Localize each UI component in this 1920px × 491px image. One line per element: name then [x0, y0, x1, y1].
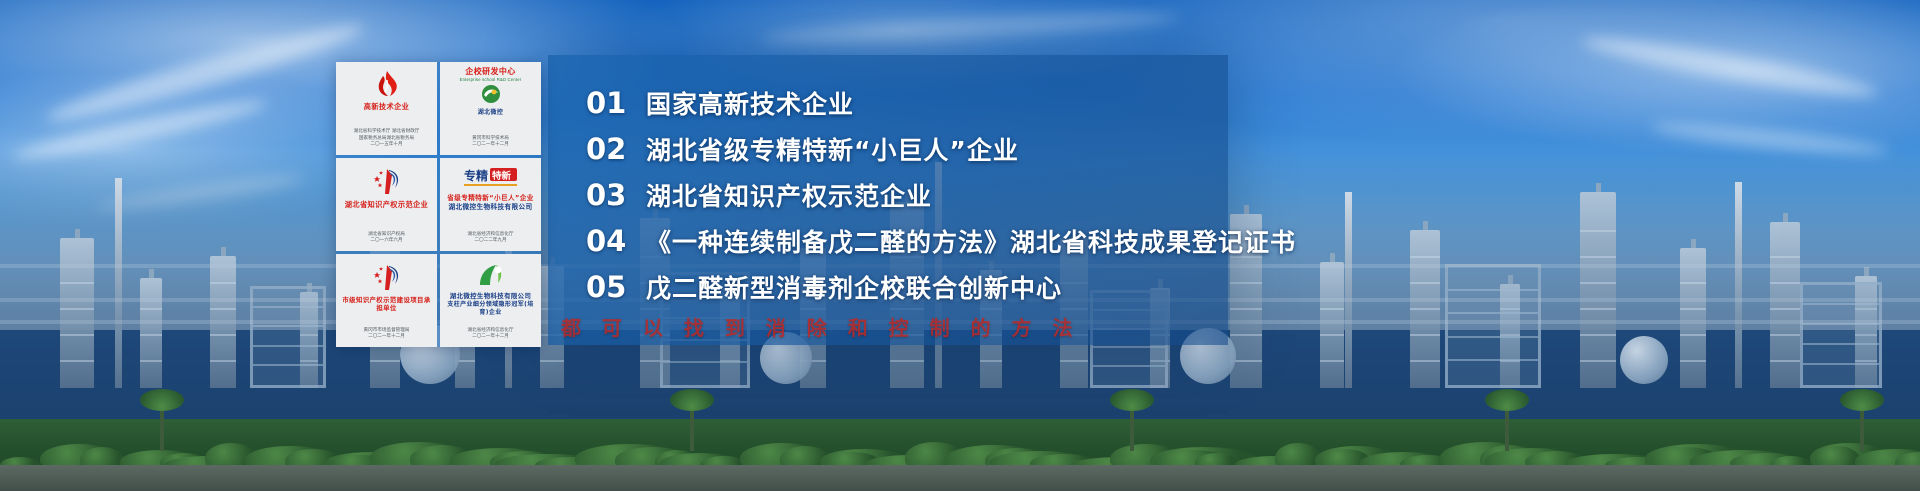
list-item[interactable]: 03 湖北省知识产权示范企业 — [586, 172, 1906, 218]
certificate-subtext: 湖北省知识产权局 二〇一六年六月 — [368, 232, 405, 248]
svg-text:专精: 专精 — [464, 168, 488, 183]
tower-band — [1680, 360, 1706, 362]
tower-band — [140, 334, 162, 336]
tower-band — [1680, 334, 1706, 336]
red-flame-logo-icon — [374, 67, 400, 101]
list-item[interactable]: 01 国家高新技术企业 — [586, 80, 1906, 126]
tower-band — [890, 360, 924, 362]
list-item-label: 湖北省级专精特新“小巨人”企业 — [646, 131, 1019, 167]
list-item[interactable]: 04 《一种连续制备戊二醛的方法》湖北省科技成果登记证书 — [586, 218, 1906, 264]
cloud-streak — [760, 7, 1180, 49]
palm-tree — [160, 405, 164, 451]
certificate-card[interactable]: 高新技术企业 湖北省科学技术厅 湖北省财政厅 国家税务总局湖北省税务局 二〇一五… — [336, 62, 437, 155]
star-p-ipr-logo-icon — [371, 163, 403, 199]
certificate-subtext: 湖北省经济和信息化厅 二〇二一年十二月 — [468, 328, 514, 344]
star-p-ipr-logo-icon — [371, 259, 403, 295]
green-leaf-hand-logo-icon — [476, 259, 506, 291]
certificate-logo-label: 湖北微控 — [478, 109, 504, 117]
tower-band — [370, 360, 400, 362]
list-item-label: 湖北省知识产权示范企业 — [646, 177, 932, 213]
distillation-tower — [60, 238, 94, 388]
framework-beam — [253, 325, 323, 327]
palm-tree — [1860, 405, 1864, 451]
certificate-sub-line: 湖北省科学技术厅 湖北省财政厅 — [354, 129, 420, 136]
certificate-body-line: 支柱产业细分领域隐形冠军(培育)企业 — [443, 301, 538, 316]
palm-tree — [1505, 405, 1509, 451]
list-item-number: 01 — [586, 89, 646, 118]
tower-band — [1580, 360, 1616, 362]
certificate-title: 企校研发中心 — [465, 67, 515, 77]
road-strip — [0, 465, 1920, 491]
tower-band — [60, 360, 94, 362]
certificate-body-line: 省级专精特新“小巨人”企业 — [447, 194, 533, 202]
tower-band — [980, 360, 1002, 362]
certificate-card[interactable]: 湖北微控生物科技有限公司 支柱产业细分领域隐形冠军(培育)企业 湖北省经济和信息… — [440, 254, 541, 347]
certificate-sub-line: 二〇二一年十二月 — [468, 334, 514, 341]
list-item-number: 03 — [586, 181, 646, 210]
certificate-sub-line: 二〇一五年十月 — [354, 142, 420, 149]
tower-band — [1320, 360, 1344, 362]
framework-beam — [253, 364, 323, 366]
svg-text:特新: 特新 — [492, 170, 512, 182]
framework-beam — [1803, 363, 1879, 365]
background-slogan: 全 都 可 以 找 到 消 除 和 控 制 的 方 法 — [520, 312, 1420, 341]
certificate-sub-line: 二〇二二年九月 — [468, 238, 514, 245]
certificate-title: 湖北微控生物科技有限公司 — [450, 292, 532, 300]
tower-band — [1060, 360, 1088, 362]
certificate-title: 市级知识产权示范建设项目承担单位 — [339, 296, 434, 312]
framework-beam — [1448, 336, 1538, 338]
tower-band — [140, 308, 162, 310]
tower-band — [1580, 334, 1616, 336]
certificate-subtext: 湖北省经济和信息化厅 二〇二二年九月 — [468, 232, 514, 248]
certificate-body-line: 湖北微控生物科技有限公司 — [449, 203, 533, 211]
tower-band — [210, 334, 236, 336]
tower-band — [210, 282, 236, 284]
certificate-sub-line: 二〇二一年十二月 — [364, 334, 410, 341]
hubei-weikong-huanggang-normal-university-logo-icon — [479, 82, 503, 108]
certificate-sub-line: 二〇一六年六月 — [368, 238, 405, 245]
framework-beam — [1093, 365, 1165, 367]
palm-tree — [690, 405, 694, 451]
framework-beam — [1448, 359, 1538, 361]
certificate-card[interactable]: 专精 特新 省级专精特新“小巨人”企业 湖北微控生物科技有限公司 湖北省经济和信… — [440, 158, 541, 251]
tower-band — [540, 360, 564, 362]
list-item[interactable]: 05 戊二醛新型消毒剂企校联合创新中心 — [586, 264, 1906, 310]
certificate-subtext: 黄冈市市场监督管理局 二〇二一年十二月 — [364, 328, 410, 344]
framework-beam — [1448, 312, 1538, 314]
framework-beam — [1803, 343, 1879, 345]
certificate-card[interactable]: 湖北省知识产权示范企业 湖北省知识产权局 二〇一六年六月 — [336, 158, 437, 251]
list-item[interactable]: 02 湖北省级专精特新“小巨人”企业 — [586, 126, 1906, 172]
palm-tree — [1130, 405, 1134, 451]
honors-banner: 全 都 可 以 找 到 消 除 和 控 制 的 方 法 01 国家高新技术企业 … — [0, 0, 1920, 491]
list-item-number: 02 — [586, 135, 646, 164]
certificate-sub-line: 二〇二一年十二月 — [472, 142, 509, 149]
list-item-label: 《一种连续制备戊二醛的方法》湖北省科技成果登记证书 — [646, 223, 1296, 259]
certificate-title: 高新技术企业 — [364, 102, 410, 111]
framework-beam — [663, 361, 747, 363]
list-item-number: 04 — [586, 227, 646, 256]
specialized-little-giant-badge-icon: 专精 特新 — [462, 163, 520, 193]
certificate-subtext: 湖北省科学技术厅 湖北省财政厅 国家税务总局湖北省税务局 二〇一五年十月 — [354, 129, 420, 152]
certificate-grid: 高新技术企业 湖北省科学技术厅 湖北省财政厅 国家税务总局湖北省税务局 二〇一五… — [336, 62, 541, 347]
tower-band — [1770, 360, 1800, 362]
certificate-title: 湖北省知识产权示范企业 — [345, 200, 428, 209]
list-item-number: 05 — [586, 273, 646, 302]
certificate-subtext: 黄冈市科学技术局 二〇二一年十二月 — [472, 136, 509, 152]
certificate-card[interactable]: 企校研发中心 Enterprise school R&D Center 湖北微控… — [440, 62, 541, 155]
framework-beam — [1093, 346, 1165, 348]
tower-band — [210, 308, 236, 310]
certificate-card[interactable]: 市级知识产权示范建设项目承担单位 黄冈市市场监督管理局 二〇二一年十二月 — [336, 254, 437, 347]
tower-band — [60, 334, 94, 336]
framework-beam — [253, 306, 323, 308]
list-item-label: 国家高新技术企业 — [646, 85, 854, 121]
tower-band — [60, 282, 94, 284]
honors-list: 01 国家高新技术企业 02 湖北省级专精特新“小巨人”企业 03 湖北省知识产… — [586, 80, 1906, 310]
framework-beam — [253, 345, 323, 347]
tower-band — [1410, 360, 1440, 362]
distillation-tower — [140, 278, 162, 388]
list-item-label: 戊二醛新型消毒剂企校联合创新中心 — [646, 269, 1062, 305]
chimney-stack — [115, 178, 122, 388]
tower-band — [210, 360, 236, 362]
tower-band — [1770, 334, 1800, 336]
spherical-tank — [1620, 336, 1668, 384]
tower-band — [140, 360, 162, 362]
tower-band — [60, 308, 94, 310]
